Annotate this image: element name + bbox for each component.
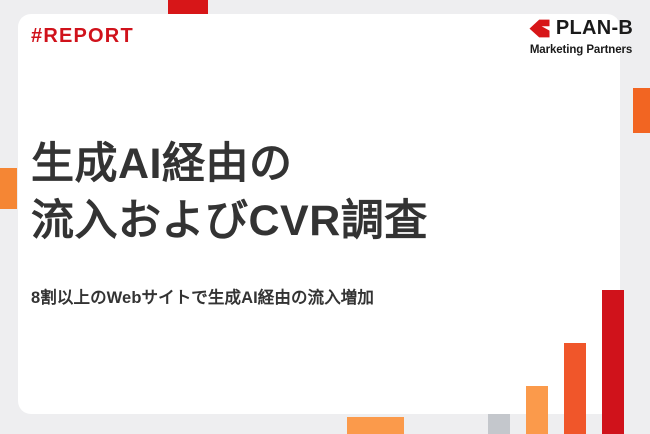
- decorative-bar-chart: [488, 290, 650, 434]
- page-title-line-1: 生成AI経由の: [31, 136, 551, 193]
- page-title-line-2: 流入およびCVR調査: [31, 193, 551, 250]
- brand-name: PLAN-B: [556, 18, 633, 38]
- brand-tagline: Marketing Partners: [516, 45, 646, 57]
- brand-logo-row: PLAN-B: [516, 16, 646, 40]
- page-subtitle: 8割以上のWebサイトで生成AI経由の流入増加: [31, 288, 374, 309]
- decoration-top-red-block: [168, 0, 208, 15]
- chart-bar: [526, 386, 548, 434]
- chart-bar: [488, 414, 510, 434]
- report-tag-label: #REPORT: [31, 26, 134, 46]
- chart-bar: [564, 343, 586, 434]
- page-title: 生成AI経由の 流入およびCVR調査: [31, 136, 551, 250]
- decoration-bottom-orange-block: [347, 417, 404, 434]
- brand-logo: PLAN-B Marketing Partners: [516, 16, 646, 57]
- chart-bar: [602, 290, 624, 434]
- decoration-right-orange-block: [633, 88, 650, 133]
- decoration-left-orange-block: [0, 168, 17, 209]
- plan-b-chevron-mark-icon: [529, 19, 550, 38]
- report-cover-canvas: #REPORT PLAN-B Marketing Partners 生成AI経由…: [0, 0, 650, 434]
